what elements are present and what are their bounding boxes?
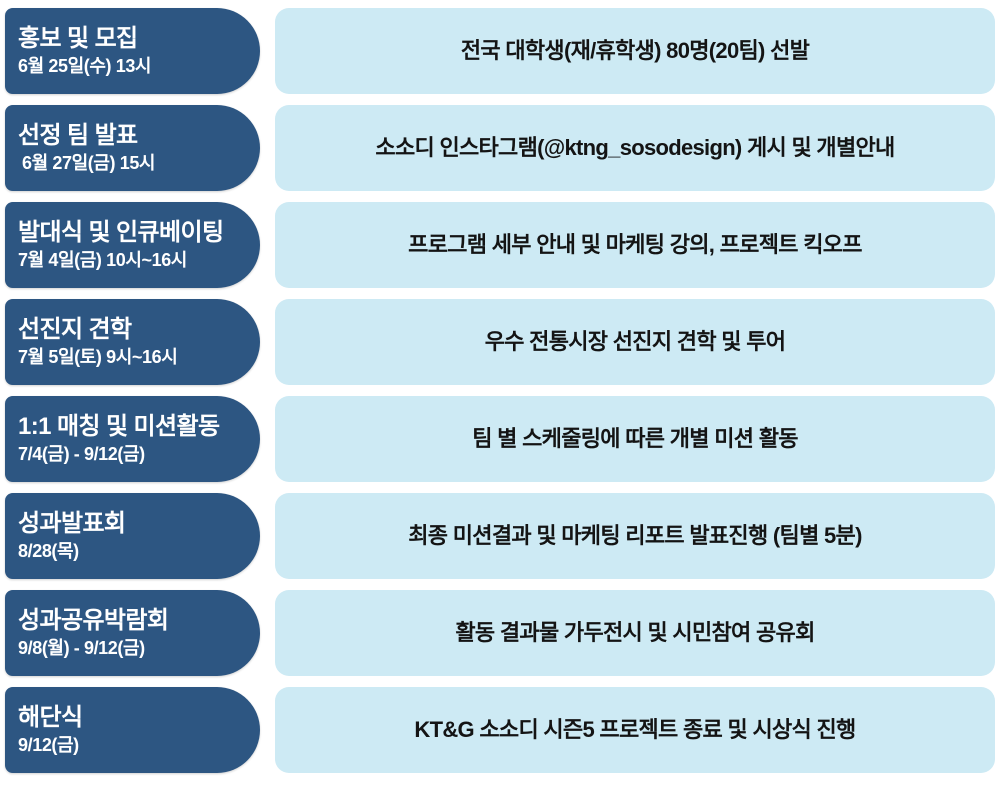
table-row: 1:1 매칭 및 미션활동 7/4(금) - 9/12(금) 팀 별 스케줄링에… [5, 396, 995, 482]
description-panel: 팀 별 스케줄링에 따른 개별 미션 활동 [275, 396, 995, 482]
phase-title: 해단식 [18, 704, 260, 732]
phase-date: 7월 5일(토) 9시~16시 [18, 347, 260, 368]
phase-pill: 선진지 견학 7월 5일(토) 9시~16시 [5, 299, 260, 385]
description-text: 우수 전통시장 선진지 견학 및 투어 [485, 329, 786, 355]
table-row: 성과공유박람회 9/8(월) - 9/12(금) 활동 결과물 가두전시 및 시… [5, 590, 995, 676]
description-text: KT&G 소소디 시즌5 프로젝트 종료 및 시상식 진행 [414, 717, 855, 743]
description-panel: 최종 미션결과 및 마케팅 리포트 발표진행 (팀별 5분) [275, 493, 995, 579]
description-text: 소소디 인스타그램(@ktng_sosodesign) 게시 및 개별안내 [375, 135, 894, 161]
phase-title: 선정 팀 발표 [18, 122, 260, 150]
phase-date: 7/4(금) - 9/12(금) [18, 444, 260, 465]
description-panel: 우수 전통시장 선진지 견학 및 투어 [275, 299, 995, 385]
column-gap [260, 105, 275, 191]
table-row: 홍보 및 모집 6월 25일(수) 13시 전국 대학생(재/휴학생) 80명(… [5, 8, 995, 94]
phase-pill: 성과발표회 8/28(목) [5, 493, 260, 579]
column-gap [260, 493, 275, 579]
phase-date: 8/28(목) [18, 541, 260, 562]
phase-title: 성과공유박람회 [18, 607, 260, 635]
phase-title: 1:1 매칭 및 미션활동 [18, 413, 260, 441]
description-panel: 활동 결과물 가두전시 및 시민참여 공유회 [275, 590, 995, 676]
description-panel: 소소디 인스타그램(@ktng_sosodesign) 게시 및 개별안내 [275, 105, 995, 191]
description-text: 프로그램 세부 안내 및 마케팅 강의, 프로젝트 킥오프 [408, 232, 862, 258]
description-text: 활동 결과물 가두전시 및 시민참여 공유회 [455, 620, 814, 646]
phase-date: 7월 4일(금) 10시~16시 [18, 250, 260, 271]
table-row: 성과발표회 8/28(목) 최종 미션결과 및 마케팅 리포트 발표진행 (팀별… [5, 493, 995, 579]
description-panel: 프로그램 세부 안내 및 마케팅 강의, 프로젝트 킥오프 [275, 202, 995, 288]
description-text: 최종 미션결과 및 마케팅 리포트 발표진행 (팀별 5분) [408, 523, 861, 549]
phase-pill: 홍보 및 모집 6월 25일(수) 13시 [5, 8, 260, 94]
column-gap [260, 299, 275, 385]
phase-pill: 성과공유박람회 9/8(월) - 9/12(금) [5, 590, 260, 676]
description-panel: 전국 대학생(재/휴학생) 80명(20팀) 선발 [275, 8, 995, 94]
schedule-table: 홍보 및 모집 6월 25일(수) 13시 전국 대학생(재/휴학생) 80명(… [0, 0, 1000, 794]
table-row: 발대식 및 인큐베이팅 7월 4일(금) 10시~16시 프로그램 세부 안내 … [5, 202, 995, 288]
phase-title: 선진지 견학 [18, 316, 260, 344]
phase-date: 9/8(월) - 9/12(금) [18, 638, 260, 659]
description-panel: KT&G 소소디 시즌5 프로젝트 종료 및 시상식 진행 [275, 687, 995, 773]
description-text: 전국 대학생(재/휴학생) 80명(20팀) 선발 [461, 38, 809, 64]
table-row: 선진지 견학 7월 5일(토) 9시~16시 우수 전통시장 선진지 견학 및 … [5, 299, 995, 385]
phase-title: 발대식 및 인큐베이팅 [18, 219, 260, 247]
column-gap [260, 687, 275, 773]
description-text: 팀 별 스케줄링에 따른 개별 미션 활동 [472, 426, 798, 452]
phase-title: 홍보 및 모집 [18, 25, 260, 53]
phase-pill: 해단식 9/12(금) [5, 687, 260, 773]
phase-title: 성과발표회 [18, 510, 260, 538]
phase-date: 6월 27일(금) 15시 [18, 153, 260, 174]
phase-date: 6월 25일(수) 13시 [18, 56, 260, 77]
column-gap [260, 396, 275, 482]
table-row: 해단식 9/12(금) KT&G 소소디 시즌5 프로젝트 종료 및 시상식 진… [5, 687, 995, 773]
column-gap [260, 202, 275, 288]
column-gap [260, 8, 275, 94]
table-row: 선정 팀 발표 6월 27일(금) 15시 소소디 인스타그램(@ktng_so… [5, 105, 995, 191]
column-gap [260, 590, 275, 676]
phase-pill: 발대식 및 인큐베이팅 7월 4일(금) 10시~16시 [5, 202, 260, 288]
phase-date: 9/12(금) [18, 735, 260, 756]
phase-pill: 선정 팀 발표 6월 27일(금) 15시 [5, 105, 260, 191]
phase-pill: 1:1 매칭 및 미션활동 7/4(금) - 9/12(금) [5, 396, 260, 482]
